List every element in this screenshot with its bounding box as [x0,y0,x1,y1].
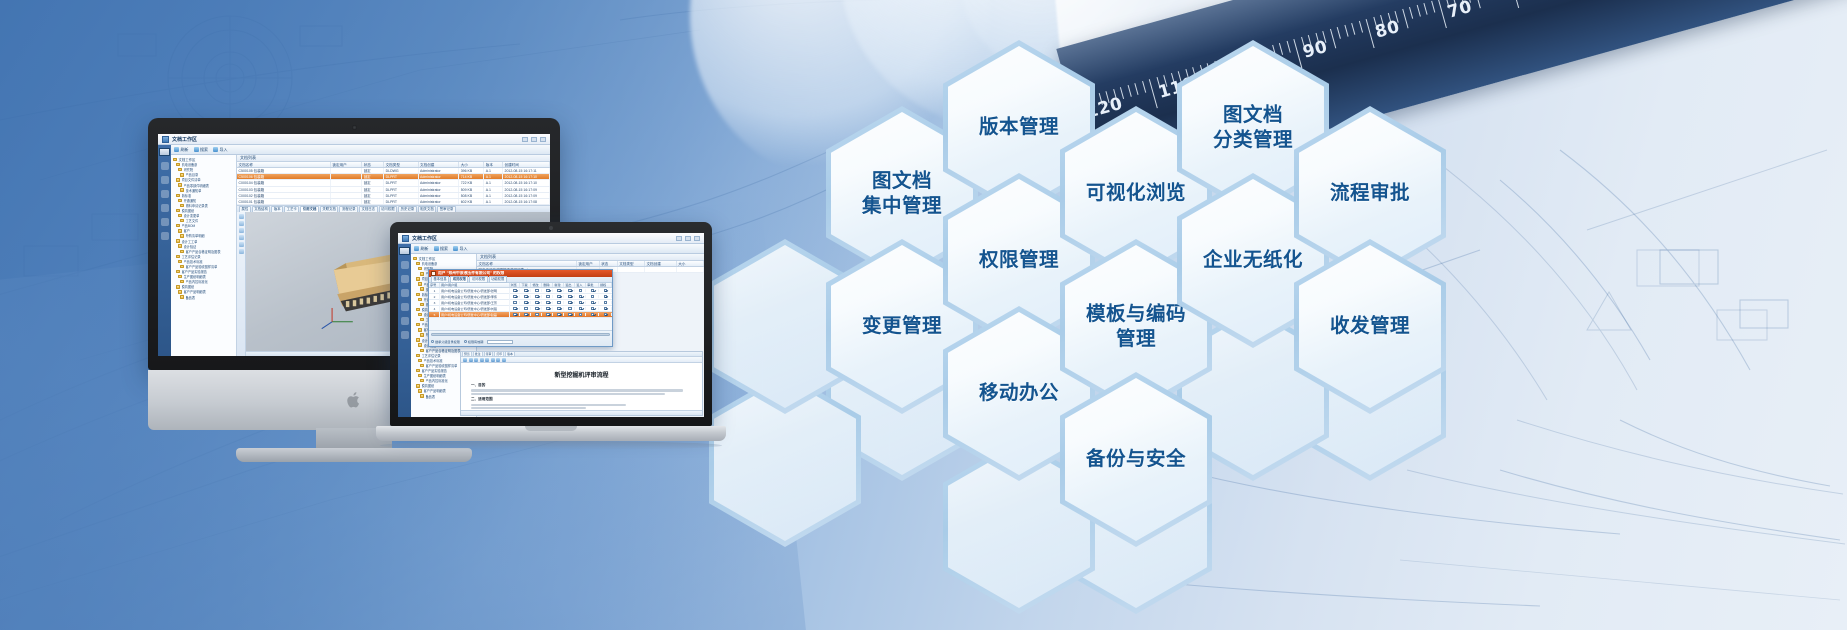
folder-icon [416,369,420,372]
permissions-row-user: 用户/机电设备公司/研发中心/研发部/赵磊 [440,312,510,318]
viewer-tool-measure-icon[interactable] [239,235,244,240]
permissions-checkbox-cell[interactable] [575,313,586,316]
hex-tile-label: 流程审批 [1330,181,1410,206]
grid-cell: Administrator [419,187,460,192]
rail-icon-settings[interactable] [161,218,169,226]
folder-icon [176,209,180,212]
permissions-checkbox[interactable] [546,313,549,316]
permissions-checkbox[interactable] [604,307,607,310]
rail-icon-workspace[interactable] [161,162,169,170]
permissions-checkbox-cell[interactable] [599,313,612,316]
folder-icon [178,214,182,217]
permissions-checkbox-cell[interactable] [599,307,612,310]
folder-icon [178,183,182,186]
laptop-app-titlebar: 文档工作区 [398,233,704,244]
hex-tile-label: 变更管理 [862,314,942,339]
folder-icon [413,257,417,260]
permissions-checkbox-cell[interactable] [599,289,612,292]
folder-icon [420,272,424,275]
inherit-radio[interactable] [431,340,434,343]
grid-column-header[interactable]: 文档名称 [237,162,331,167]
permissions-checkbox[interactable] [557,295,560,298]
laptop-grid-column-header[interactable]: 文档名称 [477,261,577,266]
property-tabstrip[interactable]: 属性文档结构版本工艺卡引用文档关联文档流程记录文档日志访问权限历史记录相关文档签… [237,205,550,212]
tree-node[interactable]: 备品表 [173,295,235,300]
folder-icon [418,328,422,331]
permissions-checkbox[interactable] [535,295,538,298]
permissions-checkbox[interactable] [568,307,571,310]
permissions-checkbox[interactable] [546,295,549,298]
toolbar-button-搜索[interactable]: 搜索 [434,246,449,252]
permissions-checkbox[interactable] [535,307,538,310]
permissions-checkbox-cell[interactable] [553,295,564,298]
grid-cell: A.1 [484,168,503,173]
permissions-checkbox-cell[interactable] [564,295,575,298]
dialog-tab-基本信息[interactable]: 基本信息 [431,276,449,283]
permissions-checkbox[interactable] [535,289,538,292]
grid-cell: DLPRT [384,193,418,198]
hex-tile-label: 图文档 分类管理 [1213,103,1293,153]
folder-icon [420,364,424,367]
permissions-checkbox-cell[interactable] [510,289,521,292]
doc-tool-stamp-icon[interactable] [491,358,495,362]
permissions-column-header[interactable]: 修改 [531,283,542,287]
hex-tile-label: 备份与安全 [1086,447,1186,472]
permissions-checkbox-cell[interactable] [575,307,586,310]
doc-preview-tab[interactable]: 预览 [462,351,472,357]
permissions-checkbox-cell[interactable] [553,313,564,316]
permissions-checkbox[interactable] [535,301,538,304]
permissions-checkbox-cell[interactable] [575,289,586,292]
permissions-checkbox[interactable] [591,289,594,292]
toolbar-button-icon [194,147,199,152]
dialog-tab-访问权限[interactable]: 访问权限 [469,276,487,283]
folder-icon [180,265,184,268]
folder-icon [178,275,182,278]
permissions-checkbox-cell[interactable] [575,295,586,298]
permissions-checkbox-cell[interactable] [599,295,612,298]
permissions-checkbox-cell[interactable] [586,307,599,310]
permissions-column-header[interactable]: 序号 [429,283,440,287]
permissions-checkbox[interactable] [524,301,527,304]
toolbar-button-刷新[interactable]: 刷新 [174,147,189,153]
permissions-checkbox[interactable] [591,295,594,298]
permissions-checkbox-cell[interactable] [531,313,542,316]
permissions-checkbox-cell[interactable] [542,307,553,310]
grid-cell: Administrator [419,180,460,185]
permissions-checkbox-cell[interactable] [520,289,531,292]
doc-tool-zoomin-icon[interactable] [474,358,478,362]
permissions-checkbox[interactable] [604,289,607,292]
permissions-footer-options[interactable]: 继承父级目录权限 权限有效期 [431,339,610,344]
toolbar-button-label: 刷新 [421,246,429,252]
grid-column-header[interactable]: 文档创建 [419,162,460,167]
permissions-checkbox-cell[interactable] [531,307,542,310]
folder-icon [418,282,422,285]
permissions-checkbox-cell[interactable] [542,313,553,316]
permissions-checkbox[interactable] [591,301,594,304]
permissions-checkbox-cell[interactable] [542,289,553,292]
permissions-checkbox[interactable] [568,301,571,304]
viewer-tool-pan-icon[interactable] [239,214,244,219]
permissions-checkbox-cell[interactable] [531,289,542,292]
laptop-grid-column-header[interactable]: 状态 [600,261,618,266]
viewer-tool-zoom-icon[interactable] [239,221,244,226]
permissions-checkbox[interactable] [546,301,549,304]
laptop-rail-icon-workspace[interactable] [401,261,409,269]
folder-icon [420,333,424,336]
permissions-checkbox-cell[interactable] [553,307,564,310]
folder-icon [418,359,422,362]
laptop-rail-icon-user[interactable] [401,331,409,339]
doc-preview-tab[interactable]: 打印 [494,351,504,357]
laptop-product-logo-icon [399,247,410,255]
grid-cell: C000102 包装箱 [237,193,331,198]
permissions-checkbox[interactable] [557,289,560,292]
grid-column-header[interactable]: 状态 [362,162,384,167]
grid-cell: 508 KB [459,193,484,198]
permissions-checkbox[interactable] [557,301,560,304]
hex-tile-label: 可视化浏览 [1086,181,1186,206]
grid-column-header[interactable]: 文档类型 [384,162,418,167]
toolbar-button-搜索[interactable]: 搜索 [194,147,209,153]
grid-cell [331,180,362,185]
permissions-table-rows[interactable]: 1用户/机电设备公司/研发中心/研发部/张明2用户/机电设备公司/研发中心/研发… [429,288,612,318]
laptop-toolbar[interactable]: 刷新搜索导入 [411,244,704,254]
permissions-column-header[interactable]: 下载 [520,283,531,287]
toolbar-button-label: 搜索 [200,147,208,153]
permissions-checkbox-cell[interactable] [531,301,542,304]
toolbar-button-刷新[interactable]: 刷新 [414,246,429,252]
toolbar-button-icon [213,147,218,152]
permissions-checkbox-cell[interactable] [586,313,599,316]
permissions-column-header[interactable]: 签出 [564,283,575,287]
permissions-column-header[interactable]: 审批 [586,283,599,287]
app-titlebar: 文档工作区 [158,134,550,145]
grid-cell: A.1 [484,187,503,192]
grid-cell [331,193,362,198]
grid-cell: DLPRT [384,180,418,185]
permissions-checkbox-cell[interactable] [542,301,553,304]
permissions-checkbox[interactable] [546,289,549,292]
permissions-checkbox-cell[interactable] [564,289,575,292]
folder-icon [420,394,424,397]
permissions-checkbox[interactable] [604,295,607,298]
grid-tab-label: 文档列表 [240,155,256,161]
laptop-window-title: 文档工作区 [412,235,437,242]
folder-icon [176,194,180,197]
hero-banner: 120110100908070605040302010 图文档 集中管理变更管理… [0,0,1847,630]
permissions-checkbox[interactable] [604,301,607,304]
laptop-rail-icon-settings[interactable] [401,317,409,325]
document-text-line [471,389,683,391]
document-tree[interactable]: 文档工作区机电设备部研究院产品目录项目文件清单产品零部件明细表技术通知单新标准开… [171,155,237,356]
permissions-checkbox-cell[interactable] [520,295,531,298]
permissions-checkbox-cell[interactable] [553,301,564,304]
toolbar-button-icon [414,246,419,251]
folder-icon [176,224,180,227]
grid-cell: DLPRT [384,187,418,192]
product-logo-icon [159,148,170,156]
permissions-column-header[interactable]: 授权 [599,283,612,287]
permissions-column-header[interactable]: 用户/用户组 [440,283,510,287]
permissions-checkbox-cell[interactable] [510,313,521,316]
laptop-app-icon [402,235,409,242]
permissions-column-header[interactable]: 签入 [575,283,586,287]
permissions-checkbox-cell[interactable] [553,289,564,292]
folder-icon [420,349,424,352]
permissions-checkbox[interactable] [604,313,607,316]
viewer-tool-section-icon[interactable] [239,242,244,247]
permissions-checkbox[interactable] [513,295,516,298]
permissions-dialog-footer: 继承父级目录权限 权限有效期 [429,330,612,346]
folder-icon [176,239,180,242]
permissions-checkbox[interactable] [513,313,516,316]
permissions-checkbox[interactable] [568,289,571,292]
permissions-checkbox-cell[interactable] [510,301,521,304]
permissions-checkbox[interactable] [579,307,582,310]
doc-tool-annotate-icon[interactable] [496,358,500,362]
document-text-line [471,393,665,395]
grid-cell: Administrator [419,168,460,173]
window-controls[interactable] [522,137,546,142]
permissions-checkbox[interactable] [524,289,527,292]
grid-cell [331,187,362,192]
tree-node-label: 备品表 [426,394,436,399]
folder-icon [180,234,184,237]
grid-cell: A.1 [484,193,503,198]
laptop-sidebar-rail[interactable] [398,244,411,417]
viewer-tool-markup-icon[interactable] [239,249,244,254]
grid-cell [331,168,362,173]
folder-icon [176,255,180,258]
grid-cell: 602 KB [459,199,484,204]
permissions-checkbox[interactable] [579,313,582,316]
laptop-app-window: 文档工作区 [398,233,704,417]
dialog-tab-成员权限[interactable]: 成员权限 [450,276,468,283]
laptop-bezel: 文档工作区 [390,222,712,426]
grid-cell: 2012-08-15 16:17:10 [503,180,550,185]
folder-icon [180,280,184,283]
doc-preview-tab[interactable]: 签审 [484,351,494,357]
permissions-checkbox[interactable] [513,307,516,310]
folder-icon [178,260,182,263]
grid-cell [331,199,362,204]
document-section-2: 二、适用范围 [471,397,692,402]
folder-icon [418,389,422,392]
permissions-checkbox[interactable] [568,313,571,316]
doc-preview-tab[interactable]: 版本 [505,351,515,357]
folder-icon [420,287,424,290]
grid-cell: 509 KB [459,187,484,192]
laptop-grid-tab-label: 文档列表 [480,254,496,260]
permissions-checkbox-cell[interactable] [564,301,575,304]
folder-icon [418,267,422,270]
hex-tile-label: 企业无纸化 [1203,248,1303,273]
folder-icon [180,250,184,253]
hex-tile-label: 图文档 集中管理 [862,169,942,219]
laptop-grid-column-header[interactable]: 大小 [677,261,704,266]
grid-cell: 锁定 [362,168,384,173]
toolbar-button-label: 导入 [460,246,468,252]
grid-column-header[interactable]: 锁定用户 [331,162,362,167]
laptop-rail-icon-process[interactable] [401,303,409,311]
doc-tool-fit-icon[interactable] [502,358,506,362]
permissions-checkbox-cell[interactable] [564,307,575,310]
document-title: 新型挖掘机评审流程 [471,370,692,379]
document-preview-pane[interactable]: 预览批注签审打印版本 新型挖掘机评审流程 [460,351,703,416]
grid-cell: 锁定 [362,199,384,204]
folder-icon [178,290,182,293]
toolbar-button-label: 搜索 [440,246,448,252]
permissions-checkbox[interactable] [524,307,527,310]
grid-cell: C500105 包装箱 [237,168,331,173]
rail-icon-process[interactable] [161,204,169,212]
permissions-checkbox-cell[interactable] [586,301,599,304]
laptop-window-controls[interactable] [676,236,700,241]
dialog-tab-功能权限[interactable]: 功能权限 [489,276,507,283]
document-section-1: 一、目的 [471,383,692,388]
hex-tile-label: 版本管理 [979,115,1059,140]
grid-cell: 锁定 [362,193,384,198]
permissions-checkbox-cell[interactable] [520,313,531,316]
grid-cell: 714 KB [459,174,484,179]
expiry-option[interactable]: 权限有效期 [464,339,484,344]
permissions-checkbox-cell[interactable] [542,295,553,298]
laptop-maximize-button[interactable] [685,236,691,241]
folder-icon [173,158,177,161]
permissions-checkbox[interactable] [524,313,527,316]
permissions-checkbox[interactable] [579,289,582,292]
folder-icon [416,323,420,326]
grid-cell: C000103 包装箱 [237,187,331,192]
permissions-checkbox[interactable] [579,301,582,304]
permissions-checkbox-cell[interactable] [510,295,521,298]
doc-tool-hand-icon[interactable] [469,358,473,362]
toolbar-button-label: 导入 [220,147,228,153]
permissions-checkbox[interactable] [568,295,571,298]
permissions-checkbox[interactable] [557,313,560,316]
folder-icon [176,178,180,181]
folder-icon [176,270,180,273]
permissions-checkbox[interactable] [591,313,594,316]
permissions-checkbox[interactable] [513,301,516,304]
close-button[interactable] [540,137,546,142]
grid-cell: 2012-08-15 16:17:08 [503,199,550,204]
hex-tile-label: 模板与编码 管理 [1086,302,1186,352]
folder-icon [180,173,184,176]
grid-tab[interactable]: 文档列表 [237,155,550,162]
folder-icon [420,318,424,321]
grid-cell: Administrator [419,193,460,198]
folder-icon [416,293,420,296]
laptop-minimize-button[interactable] [676,236,682,241]
horizontal-scrollbar[interactable] [431,333,610,336]
permissions-column-header[interactable]: 删除 [542,283,553,287]
laptop-rail-icon-folder[interactable] [401,275,409,283]
grid-column-header[interactable]: 版本 [484,162,503,167]
permissions-column-header[interactable]: 新建 [553,283,564,287]
permissions-checkbox[interactable] [535,313,538,316]
folder-icon [418,298,422,301]
folder-icon [416,277,420,280]
permissions-checkbox-cell[interactable] [586,295,599,298]
folder-icon [176,285,180,288]
permissions-checkbox[interactable] [524,295,527,298]
laptop-grid-column-header[interactable]: 锁定用户 [577,261,600,266]
grid-rows[interactable]: C500105 包装箱锁定DLDWGAdministrator396 KBA.1… [237,168,550,205]
maximize-button[interactable] [531,137,537,142]
laptop-grid-column-header[interactable]: 文档类型 [618,261,645,266]
grid-cell: A.1 [484,174,503,179]
permissions-checkbox-cell[interactable] [531,295,542,298]
permissions-checkbox[interactable] [546,307,549,310]
expiry-select[interactable] [487,340,513,344]
laptop-close-button[interactable] [694,236,700,241]
doc-tool-print-icon[interactable] [485,358,489,362]
doc-preview-tab[interactable]: 批注 [473,351,483,357]
permissions-checkbox-cell[interactable] [520,307,531,310]
toolbar-button-导入[interactable]: 导入 [213,147,228,153]
app-sidebar-rail[interactable] [158,145,171,356]
permissions-checkbox-cell[interactable] [599,301,612,304]
permissions-dialog[interactable]: 用户 "郑州中原液压件有限公司" 的权限 基本信息成员权限访问权限功能权限 序号… [428,269,613,347]
app-window-title: 文档工作区 [172,136,197,143]
viewer-tools[interactable] [237,212,246,356]
folder-icon [178,229,182,232]
permissions-checkbox[interactable] [591,307,594,310]
permissions-checkbox[interactable] [557,307,560,310]
inherit-label: 继承父级目录权限 [435,340,460,344]
laptop-rail-icon-search[interactable] [401,289,409,297]
grid-column-header[interactable]: 大小 [459,162,484,167]
laptop-grid-column-header[interactable]: 文档创建 [645,261,677,266]
permissions-checkbox-cell[interactable] [575,301,586,304]
minimize-button[interactable] [522,137,528,142]
rail-icon-folder[interactable] [161,176,169,184]
rail-icon-search[interactable] [161,190,169,198]
grid-cell: 722 KB [459,180,484,185]
folder-icon [418,313,422,316]
doc-tool-select-icon[interactable] [463,358,467,362]
toolbar-button-导入[interactable]: 导入 [453,246,468,252]
laptop-notch [525,426,577,431]
viewer-tool-rotate-icon[interactable] [239,228,244,233]
permissions-column-header[interactable]: 浏览 [510,283,521,287]
permissions-checkbox-cell[interactable] [564,313,575,316]
permissions-checkbox-cell[interactable] [520,301,531,304]
permissions-checkbox-cell[interactable] [586,289,599,292]
rail-icon-user[interactable] [161,232,169,240]
app-icon [162,136,169,143]
toolbar-button-label: 刷新 [181,147,189,153]
permissions-row[interactable]: 5用户/机电设备公司/研发中心/研发部/赵磊 [429,312,612,318]
permissions-checkbox[interactable] [513,289,516,292]
app-toolbar[interactable]: 刷新搜索导入 [171,145,550,155]
permissions-checkbox[interactable] [579,295,582,298]
grid-column-header[interactable]: 创建时间 [503,162,550,167]
toolbar-button-icon [434,246,439,251]
expiry-radio[interactable] [464,340,467,343]
doc-tool-zoomout-icon[interactable] [480,358,484,362]
inherit-option[interactable]: 继承父级目录权限 [431,339,460,344]
hex-tile-label: 收发管理 [1330,314,1410,339]
laptop-grid-tab[interactable]: 文档列表 [477,254,704,261]
monitor-stand-base [236,448,472,462]
grid-cell: 锁定 [362,174,384,179]
toolbar-button-icon [174,147,179,152]
permissions-checkbox-cell[interactable] [510,307,521,310]
